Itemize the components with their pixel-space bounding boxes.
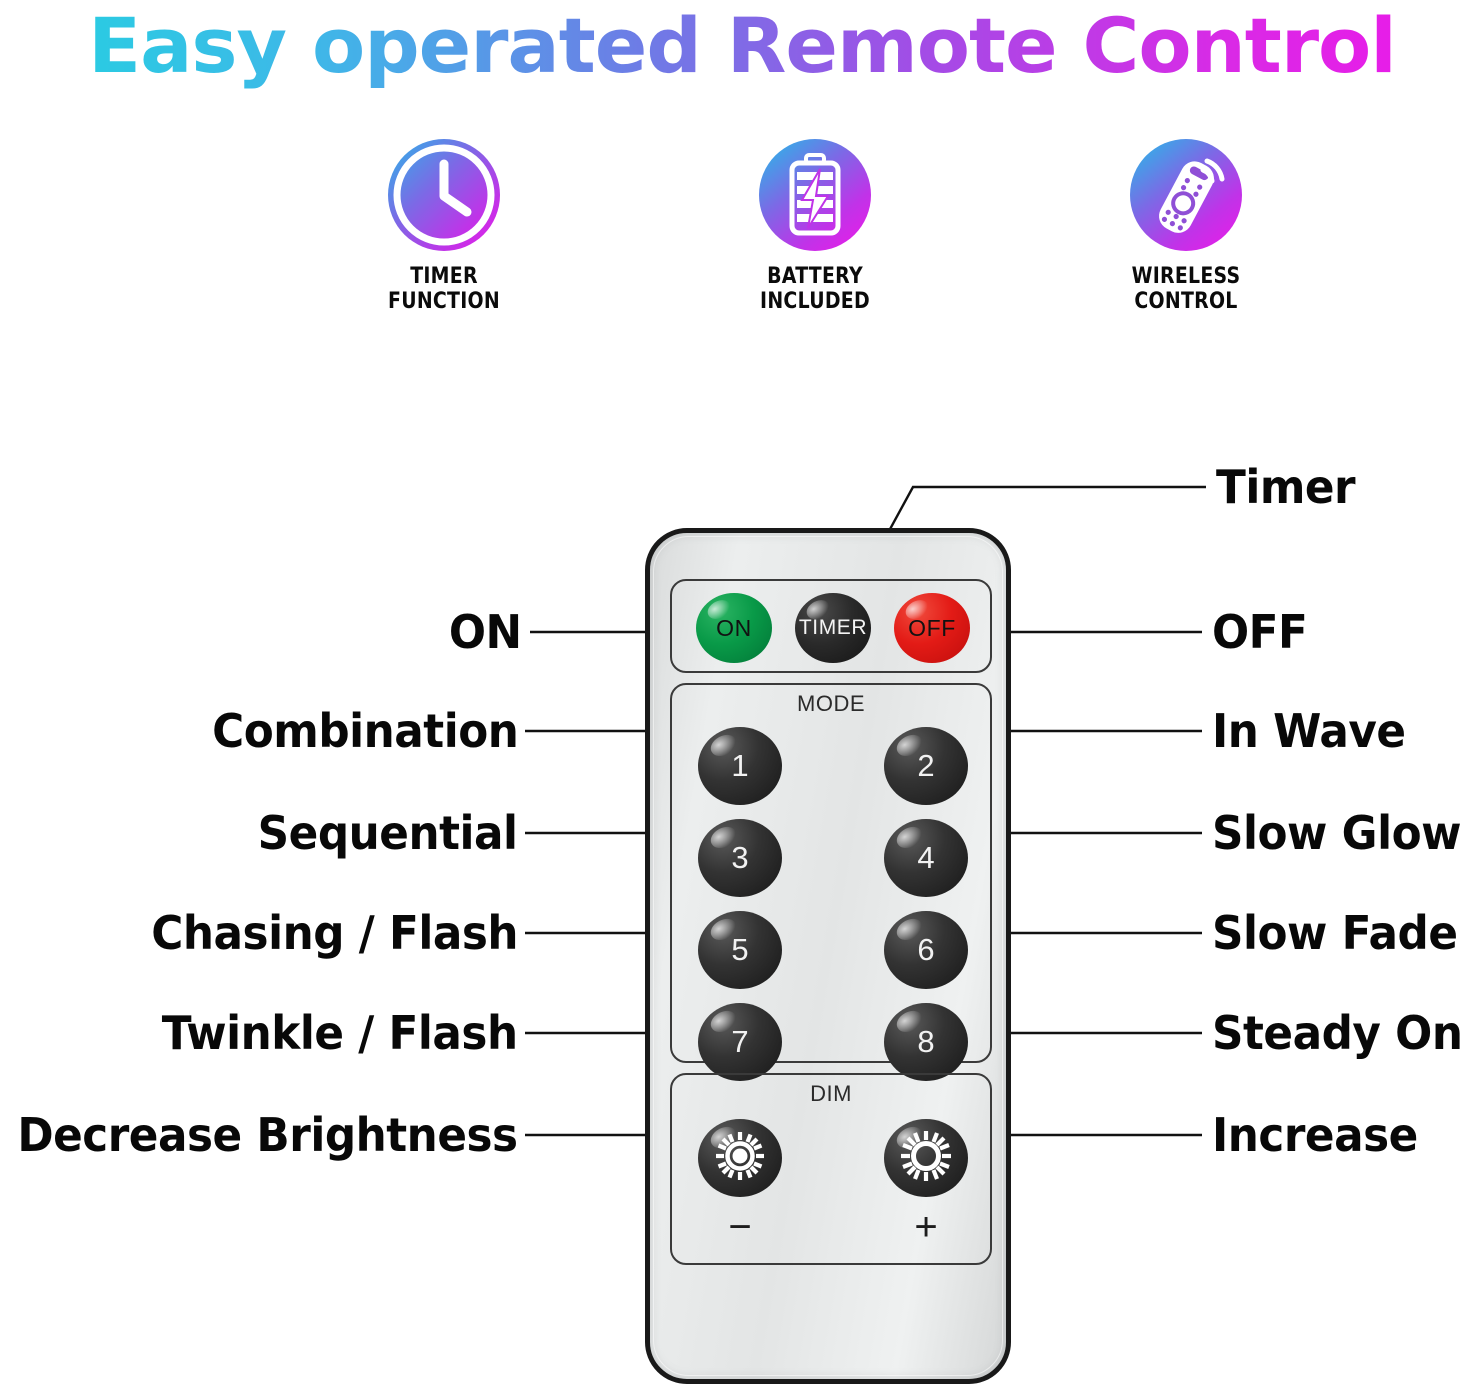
callout-timer: Timer — [1216, 462, 1355, 512]
clock-icon — [385, 136, 503, 254]
dim-minus-sign: − — [698, 1207, 782, 1247]
mode-button-6[interactable]: 6 — [884, 911, 968, 989]
mode-button-label: 1 — [731, 748, 748, 784]
mode-button-5[interactable]: 5 — [698, 911, 782, 989]
callout-in-wave: In Wave — [1212, 706, 1406, 756]
feature-battery-included: BATTERY INCLUDED — [695, 136, 935, 314]
mode-button-label: 8 — [917, 1024, 934, 1060]
power-panel: ON TIMER OFF — [670, 579, 992, 673]
callout-on: ON — [449, 607, 522, 657]
page-title: Easy operated Remote Control — [0, 0, 1484, 94]
callout-slow-glow: Slow Glow — [1212, 808, 1461, 858]
feature-label: TIMER FUNCTION — [341, 264, 547, 314]
callout-decrease-brightness: Decrease Brightness — [18, 1110, 518, 1160]
callout-chasing-flash: Chasing / Flash — [151, 908, 518, 958]
dim-increase-button[interactable] — [884, 1119, 968, 1197]
on-button-label: ON — [716, 615, 752, 642]
feature-label-line1: BATTERY — [712, 264, 918, 289]
mode-button-label: 4 — [917, 840, 934, 876]
mode-button-label: 3 — [731, 840, 748, 876]
mode-panel-title: MODE — [672, 691, 990, 717]
callout-increase: Increase — [1212, 1110, 1418, 1160]
mode-button-3[interactable]: 3 — [698, 819, 782, 897]
dim-decrease-button[interactable] — [698, 1119, 782, 1197]
battery-icon — [756, 136, 874, 254]
callout-sequential: Sequential — [258, 808, 518, 858]
feature-wireless-control: WIRELESS CONTROL — [1066, 136, 1306, 314]
feature-label-line2: CONTROL — [1083, 289, 1289, 314]
mode-button-4[interactable]: 4 — [884, 819, 968, 897]
off-button-label: OFF — [908, 615, 956, 642]
timer-button[interactable]: TIMER — [795, 593, 871, 663]
callout-twinkle-flash: Twinkle / Flash — [162, 1008, 518, 1058]
off-button[interactable]: OFF — [894, 593, 970, 663]
mode-button-label: 7 — [731, 1024, 748, 1060]
callout-slow-fade: Slow Fade — [1212, 908, 1457, 958]
dim-plus-sign: + — [884, 1207, 968, 1247]
feature-timer-function: TIMER FUNCTION — [324, 136, 564, 314]
dim-panel: DIM — [670, 1073, 992, 1265]
callout-steady-on: Steady On — [1212, 1008, 1462, 1058]
feature-label: WIRELESS CONTROL — [1083, 264, 1289, 314]
dim-panel-title: DIM — [672, 1081, 990, 1107]
remote-icon — [1127, 136, 1245, 254]
mode-button-1[interactable]: 1 — [698, 727, 782, 805]
brightness-up-icon — [899, 1129, 953, 1188]
mode-button-8[interactable]: 8 — [884, 1003, 968, 1081]
mode-button-label: 5 — [731, 932, 748, 968]
brightness-down-icon — [713, 1129, 767, 1188]
feature-label-line1: TIMER — [341, 264, 547, 289]
callout-off: OFF — [1212, 607, 1307, 657]
mode-button-label: 2 — [917, 748, 934, 784]
mode-button-2[interactable]: 2 — [884, 727, 968, 805]
mode-button-label: 6 — [917, 932, 934, 968]
on-button[interactable]: ON — [696, 593, 772, 663]
remote-control-device: ON TIMER OFF MODE 1 2 3 4 — [645, 528, 1011, 1384]
feature-label: BATTERY INCLUDED — [712, 264, 918, 314]
feature-label-line1: WIRELESS — [1083, 264, 1289, 289]
mode-button-7[interactable]: 7 — [698, 1003, 782, 1081]
timer-button-label: TIMER — [799, 616, 867, 640]
callout-combination: Combination — [212, 706, 518, 756]
feature-label-line2: INCLUDED — [712, 289, 918, 314]
feature-label-line2: FUNCTION — [341, 289, 547, 314]
mode-panel: MODE 1 2 3 4 5 6 7 8 — [670, 683, 992, 1063]
